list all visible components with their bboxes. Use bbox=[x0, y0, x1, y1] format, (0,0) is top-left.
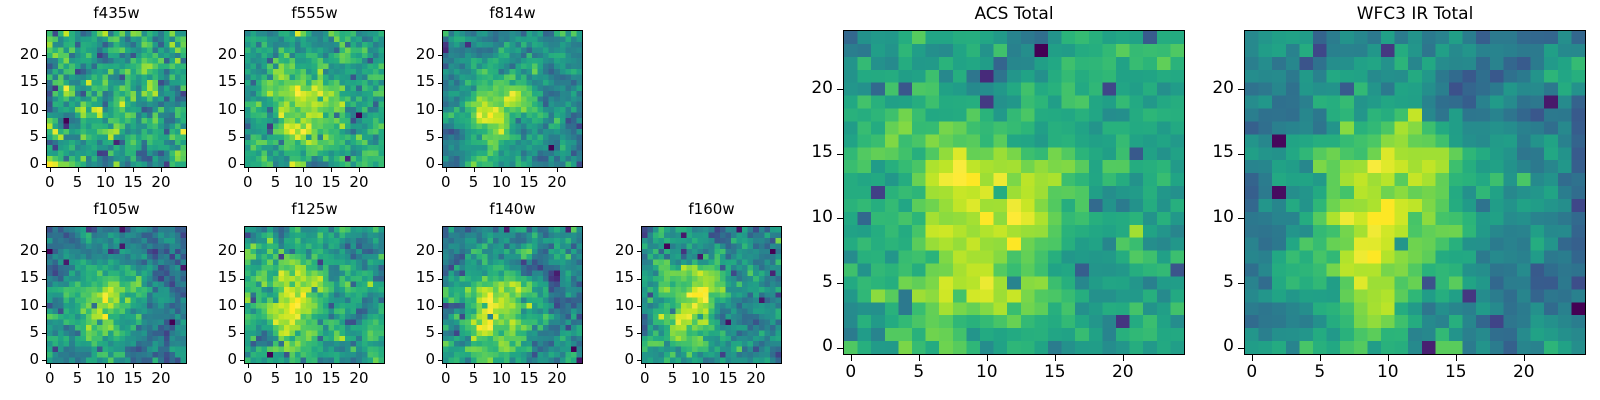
panel-title: f555w bbox=[244, 6, 385, 21]
panel-f814w: f814w0510152005101520 bbox=[396, 4, 583, 194]
y-tick bbox=[42, 164, 46, 165]
y-tick bbox=[42, 137, 46, 138]
y-tick bbox=[837, 348, 843, 349]
y-tick-label: 20 bbox=[198, 243, 237, 258]
y-tick bbox=[438, 110, 442, 111]
y-tick-label: 15 bbox=[198, 270, 237, 285]
y-tick bbox=[438, 164, 442, 165]
x-tick bbox=[557, 364, 558, 368]
heatmap-canvas bbox=[47, 31, 186, 167]
panel-title: f125w bbox=[244, 202, 385, 217]
y-tick bbox=[240, 360, 244, 361]
x-tick-label: 20 bbox=[537, 175, 577, 190]
y-tick-label: 20 bbox=[0, 47, 39, 62]
y-tick-label: 20 bbox=[198, 47, 237, 62]
y-tick-label: 5 bbox=[198, 325, 237, 340]
x-tick-label: 15 bbox=[1436, 364, 1476, 381]
x-tick bbox=[248, 364, 249, 368]
x-tick bbox=[105, 364, 106, 368]
heatmap-canvas bbox=[443, 227, 582, 363]
y-tick bbox=[42, 360, 46, 361]
x-tick bbox=[359, 364, 360, 368]
heatmap-canvas bbox=[47, 227, 186, 363]
x-tick bbox=[303, 364, 304, 368]
x-tick bbox=[78, 168, 79, 172]
panel-title: ACS Total bbox=[843, 6, 1185, 23]
y-tick-label: 5 bbox=[0, 129, 39, 144]
y-tick bbox=[438, 251, 442, 252]
x-tick bbox=[501, 364, 502, 368]
x-tick bbox=[303, 168, 304, 172]
y-tick-label: 0 bbox=[396, 352, 435, 367]
y-tick bbox=[42, 306, 46, 307]
y-tick bbox=[637, 360, 641, 361]
y-tick-label: 0 bbox=[0, 156, 39, 171]
y-tick-label: 10 bbox=[0, 298, 39, 313]
y-tick-label: 10 bbox=[198, 298, 237, 313]
x-tick bbox=[645, 364, 646, 368]
x-tick-label: 20 bbox=[1103, 364, 1143, 381]
heatmap-image bbox=[244, 30, 385, 168]
y-tick-label: 15 bbox=[396, 270, 435, 285]
y-tick-label: 20 bbox=[396, 243, 435, 258]
y-tick-label: 0 bbox=[1198, 338, 1234, 355]
y-tick-label: 20 bbox=[797, 80, 833, 97]
heatmap-canvas bbox=[1245, 31, 1585, 354]
y-tick-label: 10 bbox=[198, 102, 237, 117]
y-tick-label: 15 bbox=[198, 74, 237, 89]
x-tick bbox=[700, 364, 701, 368]
x-tick bbox=[105, 168, 106, 172]
panel-title: f160w bbox=[641, 202, 782, 217]
x-tick bbox=[161, 364, 162, 368]
y-tick-label: 15 bbox=[0, 74, 39, 89]
x-tick-label: 20 bbox=[1504, 364, 1544, 381]
heatmap-canvas bbox=[642, 227, 781, 363]
y-tick-label: 5 bbox=[396, 129, 435, 144]
x-tick bbox=[331, 168, 332, 172]
x-tick-label: 20 bbox=[141, 371, 181, 386]
x-tick-label: 20 bbox=[339, 371, 379, 386]
y-tick-label: 10 bbox=[396, 298, 435, 313]
x-tick bbox=[1456, 355, 1457, 361]
y-tick bbox=[240, 110, 244, 111]
x-tick bbox=[851, 355, 852, 361]
x-tick bbox=[557, 168, 558, 172]
y-tick bbox=[637, 279, 641, 280]
x-tick bbox=[529, 364, 530, 368]
y-tick-label: 5 bbox=[1198, 274, 1234, 291]
panel-title: f435w bbox=[46, 6, 187, 21]
y-tick-label: 20 bbox=[595, 243, 634, 258]
y-tick-label: 15 bbox=[797, 144, 833, 161]
heatmap-image bbox=[641, 226, 782, 364]
x-tick bbox=[728, 364, 729, 368]
x-tick bbox=[1388, 355, 1389, 361]
y-tick bbox=[42, 55, 46, 56]
y-tick bbox=[1238, 348, 1244, 349]
heatmap-image bbox=[46, 30, 187, 168]
x-tick bbox=[331, 364, 332, 368]
panel-f555w: f555w0510152005101520 bbox=[198, 4, 385, 194]
y-tick bbox=[240, 83, 244, 84]
x-tick bbox=[276, 168, 277, 172]
heatmap-canvas bbox=[245, 31, 384, 167]
y-tick bbox=[42, 279, 46, 280]
y-tick-label: 15 bbox=[1198, 144, 1234, 161]
y-tick bbox=[1238, 283, 1244, 284]
heatmap-image bbox=[1244, 30, 1586, 355]
y-tick bbox=[637, 333, 641, 334]
y-tick bbox=[1238, 218, 1244, 219]
y-tick-label: 5 bbox=[0, 325, 39, 340]
y-tick bbox=[240, 164, 244, 165]
x-tick-label: 0 bbox=[1232, 364, 1272, 381]
heatmap-image bbox=[442, 30, 583, 168]
y-tick bbox=[837, 283, 843, 284]
y-tick-label: 10 bbox=[595, 298, 634, 313]
panel-title: f105w bbox=[46, 202, 187, 217]
heatmap-image bbox=[843, 30, 1185, 355]
y-tick bbox=[42, 333, 46, 334]
y-tick bbox=[240, 279, 244, 280]
x-tick bbox=[919, 355, 920, 361]
x-tick bbox=[78, 364, 79, 368]
x-tick bbox=[50, 364, 51, 368]
x-tick-label: 20 bbox=[339, 175, 379, 190]
x-tick-label: 5 bbox=[899, 364, 939, 381]
y-tick-label: 15 bbox=[396, 74, 435, 89]
y-tick-label: 15 bbox=[0, 270, 39, 285]
y-tick-label: 10 bbox=[797, 209, 833, 226]
y-tick-label: 5 bbox=[198, 129, 237, 144]
heatmap-image bbox=[46, 226, 187, 364]
x-tick-label: 10 bbox=[967, 364, 1007, 381]
y-tick bbox=[438, 360, 442, 361]
panel-f140w: f140w0510152005101520 bbox=[396, 200, 583, 390]
x-tick-label: 15 bbox=[1035, 364, 1075, 381]
x-tick-label: 20 bbox=[141, 175, 181, 190]
x-tick-label: 10 bbox=[1368, 364, 1408, 381]
x-tick bbox=[529, 168, 530, 172]
x-tick bbox=[1055, 355, 1056, 361]
y-tick-label: 5 bbox=[595, 325, 634, 340]
heatmap-image bbox=[244, 226, 385, 364]
x-tick bbox=[501, 168, 502, 172]
y-tick bbox=[438, 137, 442, 138]
y-tick-label: 5 bbox=[396, 325, 435, 340]
panel-f105w: f105w0510152005101520 bbox=[0, 200, 187, 390]
x-tick bbox=[133, 364, 134, 368]
y-tick-label: 10 bbox=[396, 102, 435, 117]
x-tick bbox=[1524, 355, 1525, 361]
x-tick bbox=[474, 364, 475, 368]
y-tick bbox=[438, 333, 442, 334]
y-tick bbox=[438, 83, 442, 84]
x-tick bbox=[987, 355, 988, 361]
x-tick-label: 5 bbox=[1300, 364, 1340, 381]
panel-title: f814w bbox=[442, 6, 583, 21]
y-tick-label: 0 bbox=[595, 352, 634, 367]
y-tick-label: 20 bbox=[0, 243, 39, 258]
x-tick bbox=[446, 364, 447, 368]
heatmap-image bbox=[442, 226, 583, 364]
y-tick bbox=[1238, 154, 1244, 155]
y-tick-label: 0 bbox=[396, 156, 435, 171]
panel-acs-total: ACS Total0510152005101520 bbox=[797, 4, 1185, 381]
x-tick-label: 0 bbox=[831, 364, 871, 381]
x-tick bbox=[756, 364, 757, 368]
panel-title: f140w bbox=[442, 202, 583, 217]
y-tick bbox=[837, 218, 843, 219]
y-tick-label: 5 bbox=[797, 274, 833, 291]
x-tick bbox=[446, 168, 447, 172]
x-tick bbox=[161, 168, 162, 172]
x-tick bbox=[474, 168, 475, 172]
x-tick bbox=[1123, 355, 1124, 361]
x-tick bbox=[1252, 355, 1253, 361]
y-tick-label: 0 bbox=[198, 156, 237, 171]
y-tick bbox=[1238, 89, 1244, 90]
panel-title: WFC3 IR Total bbox=[1244, 6, 1586, 23]
heatmap-canvas bbox=[245, 227, 384, 363]
y-tick bbox=[42, 83, 46, 84]
x-tick bbox=[133, 168, 134, 172]
x-tick bbox=[248, 168, 249, 172]
y-tick bbox=[240, 251, 244, 252]
x-tick bbox=[1320, 355, 1321, 361]
y-tick-label: 0 bbox=[797, 338, 833, 355]
x-tick-label: 20 bbox=[736, 371, 776, 386]
y-tick bbox=[438, 279, 442, 280]
y-tick bbox=[438, 306, 442, 307]
panel-f160w: f160w0510152005101520 bbox=[595, 200, 782, 390]
y-tick-label: 15 bbox=[595, 270, 634, 285]
y-tick-label: 0 bbox=[0, 352, 39, 367]
y-tick bbox=[240, 137, 244, 138]
panel-wfc3-ir-total: WFC3 IR Total0510152005101520 bbox=[1198, 4, 1586, 381]
y-tick-label: 10 bbox=[1198, 209, 1234, 226]
x-tick-label: 20 bbox=[537, 371, 577, 386]
y-tick-label: 10 bbox=[0, 102, 39, 117]
y-tick bbox=[240, 306, 244, 307]
panel-f435w: f435w0510152005101520 bbox=[0, 4, 187, 194]
y-tick bbox=[837, 154, 843, 155]
y-tick bbox=[42, 251, 46, 252]
x-tick bbox=[276, 364, 277, 368]
y-tick-label: 0 bbox=[198, 352, 237, 367]
x-tick bbox=[359, 168, 360, 172]
y-tick bbox=[240, 55, 244, 56]
heatmap-canvas bbox=[844, 31, 1184, 354]
x-tick bbox=[50, 168, 51, 172]
y-tick-label: 20 bbox=[1198, 80, 1234, 97]
y-tick bbox=[42, 110, 46, 111]
y-tick bbox=[637, 306, 641, 307]
y-tick bbox=[637, 251, 641, 252]
y-tick bbox=[240, 333, 244, 334]
heatmap-canvas bbox=[443, 31, 582, 167]
x-tick bbox=[673, 364, 674, 368]
y-tick-label: 20 bbox=[396, 47, 435, 62]
y-tick bbox=[438, 55, 442, 56]
y-tick bbox=[837, 89, 843, 90]
panel-f125w: f125w0510152005101520 bbox=[198, 200, 385, 390]
